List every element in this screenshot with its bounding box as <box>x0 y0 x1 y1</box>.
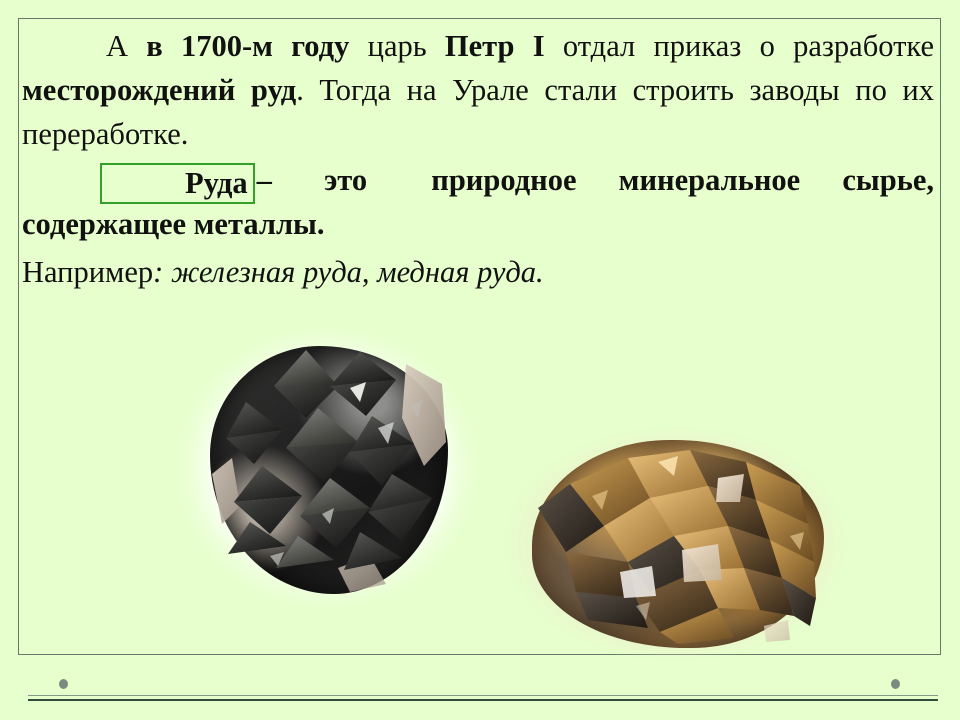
copper-ore-specimen <box>498 416 854 672</box>
definition-body: природное минеральное сырье, <box>431 163 934 197</box>
copper-ore-rock <box>532 440 824 648</box>
slide-canvas: А в 1700-м году царь Петр I отдал приказ… <box>0 0 960 720</box>
bottom-rule-lower <box>28 699 938 701</box>
example-italic-text: : железная руда, медная руда. <box>153 255 543 289</box>
iron-ore-rock <box>210 346 448 594</box>
iron-ore-specimen <box>172 318 482 618</box>
definition-continuation: содержащее металлы. <box>22 207 325 241</box>
paragraph-history: А в 1700-м году царь Петр I отдал приказ… <box>22 24 934 156</box>
history-seg-bold-deposits: месторождений руд <box>22 73 296 107</box>
decorative-dot-left-icon <box>59 679 68 689</box>
paragraph-example: Например: железная руда, медная руда. <box>22 250 934 294</box>
bottom-rule-upper <box>28 695 938 696</box>
copper-ore-crystal-facets <box>532 440 824 648</box>
history-seg-plain-3: отдал приказ о разработке <box>545 29 934 63</box>
iron-ore-crystal-facets <box>210 346 448 594</box>
decorative-dot-right-icon <box>891 679 900 689</box>
history-seg-bold-peter: Петр I <box>445 29 545 63</box>
text-content-area: А в 1700-м году царь Петр I отдал приказ… <box>22 24 934 294</box>
paragraph-definition: Руда– это природное минеральное сырье, с… <box>22 158 934 246</box>
term-highlight-box: Руда <box>100 163 255 204</box>
history-seg-plain-2: царь <box>349 29 445 63</box>
history-seg-bold-year: в 1700-м году <box>146 29 349 63</box>
history-seg-plain-1: А <box>106 29 146 63</box>
definition-dash: – это <box>257 163 367 197</box>
example-label: Например <box>22 255 153 289</box>
